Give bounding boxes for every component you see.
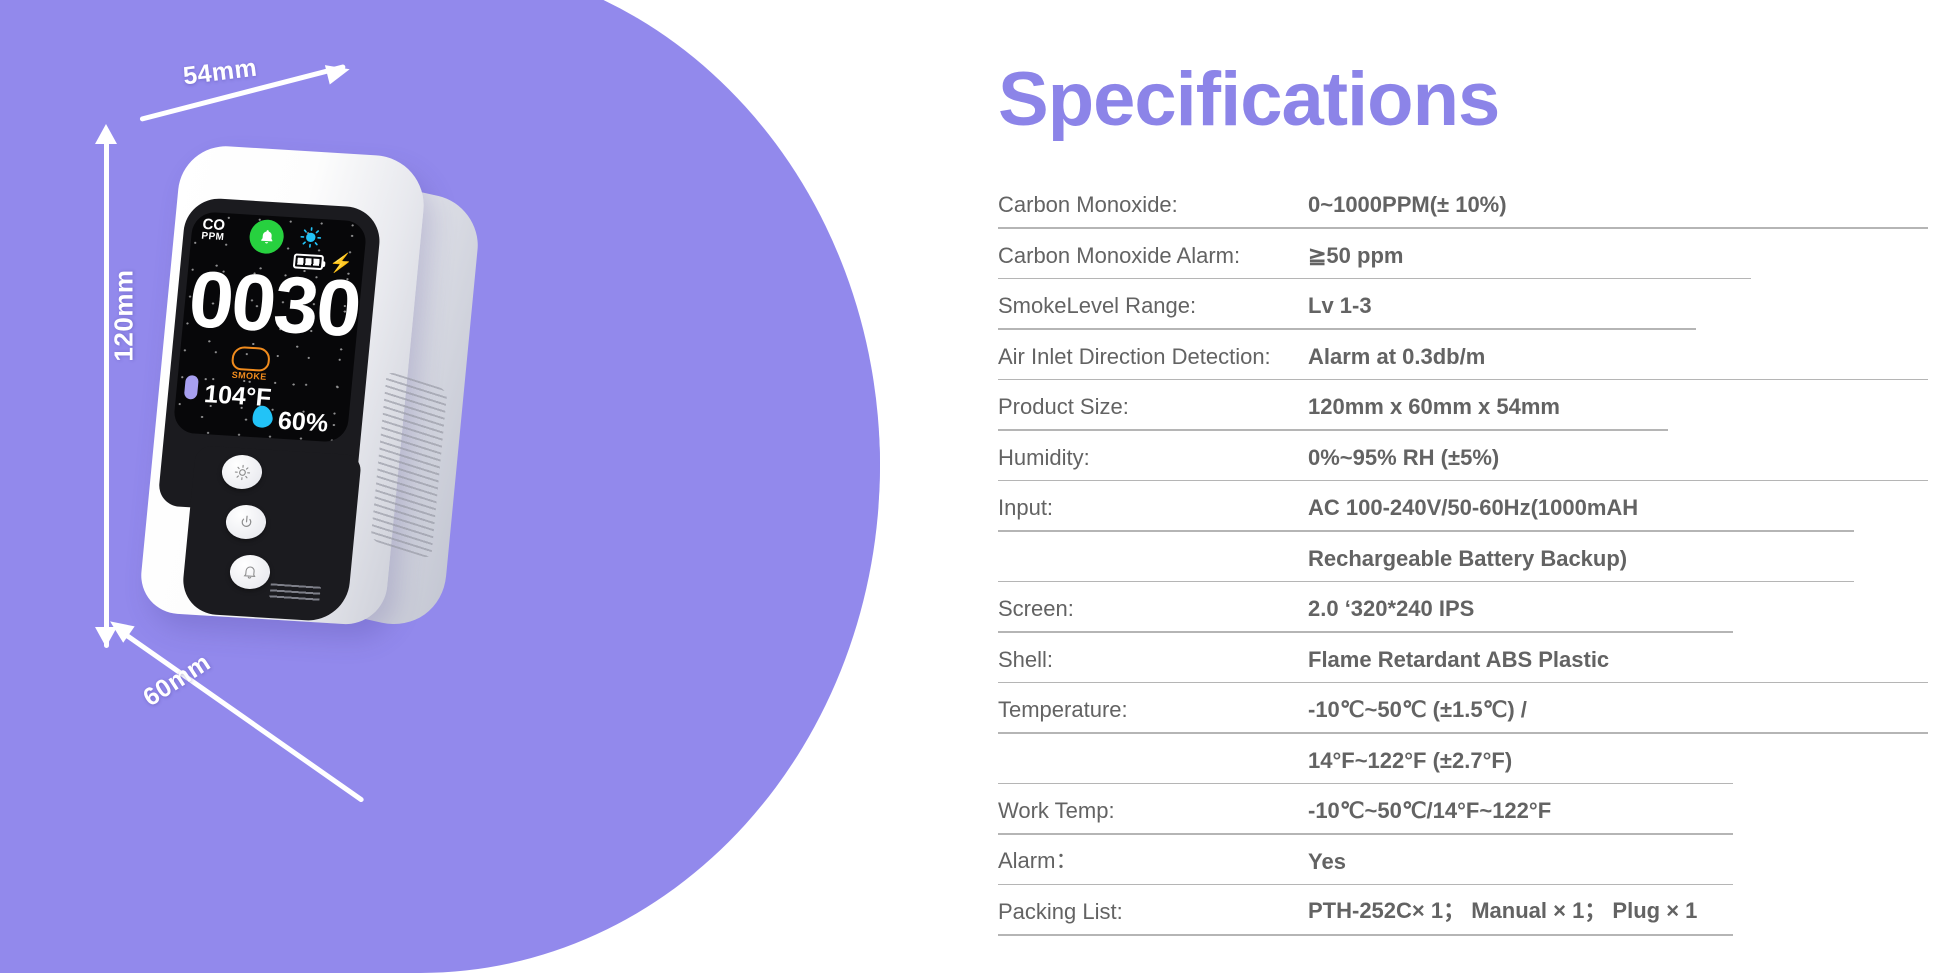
spec-value: AC 100-240V/50-60Hz(1000mAH (1308, 495, 1928, 530)
specifications-panel: Specifications Carbon Monoxide:0~1000PPM… (990, 0, 1946, 973)
spec-label: Packing List: (998, 899, 1308, 934)
spec-value: 120mm x 60mm x 54mm (1308, 394, 1928, 429)
spec-value: Alarm at 0.3db/m (1308, 344, 1928, 379)
spec-value: -10℃~50℃/14°F~122°F (1308, 798, 1928, 833)
specifications-table: Carbon Monoxide:0~1000PPM(± 10%)Carbon M… (998, 178, 1928, 936)
spec-row: Product Size:120mm x 60mm x 54mm (998, 380, 1928, 429)
product-photo-panel: 120mm 54mm 60mm CO PPM (0, 0, 900, 973)
spec-label: Carbon Monoxide: (998, 192, 1308, 227)
display-humidity: 60% (277, 407, 330, 439)
display-gas-label: CO PPM (201, 218, 226, 243)
spec-label (998, 774, 1308, 783)
display-alarm-bell-icon (248, 219, 285, 255)
spec-value: 14°F~122°F (±2.7°F) (1308, 748, 1928, 783)
spec-value: PTH-252C× 1； Manual × 1； Plug × 1 (1308, 893, 1928, 934)
spec-label: Screen: (998, 596, 1308, 631)
spec-row: Alarm：Yes (998, 835, 1928, 884)
spec-row: Carbon Monoxide:0~1000PPM(± 10%) (998, 178, 1928, 227)
height-dimension-label: 120mm (109, 246, 140, 386)
spec-label: Shell: (998, 647, 1308, 682)
spec-row: Rechargeable Battery Backup) (998, 532, 1928, 581)
page-title: Specifications (998, 62, 1499, 138)
spec-row: SmokeLevel Range:Lv 1-3 (998, 279, 1928, 328)
spec-value: 0%~95% RH (±5%) (1308, 445, 1928, 480)
device-display: CO PPM ⚡ 0030 (172, 211, 367, 443)
spec-row: Input:AC 100-240V/50-60Hz(1000mAH (998, 481, 1928, 530)
spec-label: Air Inlet Direction Detection: (998, 344, 1308, 379)
spec-label: Work Temp: (998, 798, 1308, 833)
display-co-reading: 0030 (185, 253, 364, 355)
device-illustration: CO PPM ⚡ 0030 (150, 150, 470, 650)
thermometer-icon (184, 375, 199, 400)
device-speaker-slots (269, 583, 321, 602)
display-gas-unit: PPM (201, 232, 225, 243)
display-smoke-indicator: SMOKE (230, 346, 271, 382)
spec-label: Humidity: (998, 445, 1308, 480)
spec-value: 2.0 ‘320*240 IPS (1308, 596, 1928, 631)
height-dimension-line (104, 140, 109, 648)
spec-label: Carbon Monoxide Alarm: (998, 243, 1308, 278)
spec-label: Product Size: (998, 394, 1308, 429)
display-smoke-label: SMOKE (231, 370, 267, 382)
display-brightness-sun-icon (299, 226, 323, 249)
spec-row-divider (998, 934, 1733, 936)
spec-row: Humidity:0%~95% RH (±5%) (998, 431, 1928, 480)
spec-value: Yes (1308, 849, 1928, 884)
spec-row: Air Inlet Direction Detection: Alarm at … (998, 330, 1928, 379)
spec-value: -10℃~50℃ (±1.5℃) / (1308, 697, 1928, 732)
spec-label: Alarm： (998, 843, 1308, 884)
spec-row: 14°F~122°F (±2.7°F) (998, 734, 1928, 783)
spec-label: Temperature: (998, 697, 1308, 732)
spec-row: Work Temp:-10℃~50℃/14°F~122°F (998, 784, 1928, 833)
spec-row: Packing List:PTH-252C× 1； Manual × 1； Pl… (998, 885, 1928, 934)
spec-value: Rechargeable Battery Backup) (1308, 546, 1928, 581)
spec-label: Input: (998, 495, 1308, 530)
arrow-up-icon (95, 124, 117, 144)
spec-label (998, 572, 1308, 581)
spec-row: Carbon Monoxide Alarm:≧50 ppm (998, 229, 1928, 278)
spec-row: Shell:Flame Retardant ABS Plastic (998, 633, 1928, 682)
smoke-cloud-icon (231, 346, 271, 372)
spec-row: Screen:2.0 ‘320*240 IPS (998, 582, 1928, 631)
spec-row: Temperature:-10℃~50℃ (±1.5℃) / (998, 683, 1928, 732)
spec-label: SmokeLevel Range: (998, 293, 1308, 328)
spec-value: Lv 1-3 (1308, 293, 1928, 328)
spec-value: 0~1000PPM(± 10%) (1308, 192, 1928, 227)
spec-value: ≧50 ppm (1308, 243, 1928, 278)
spec-value: Flame Retardant ABS Plastic (1308, 647, 1928, 682)
